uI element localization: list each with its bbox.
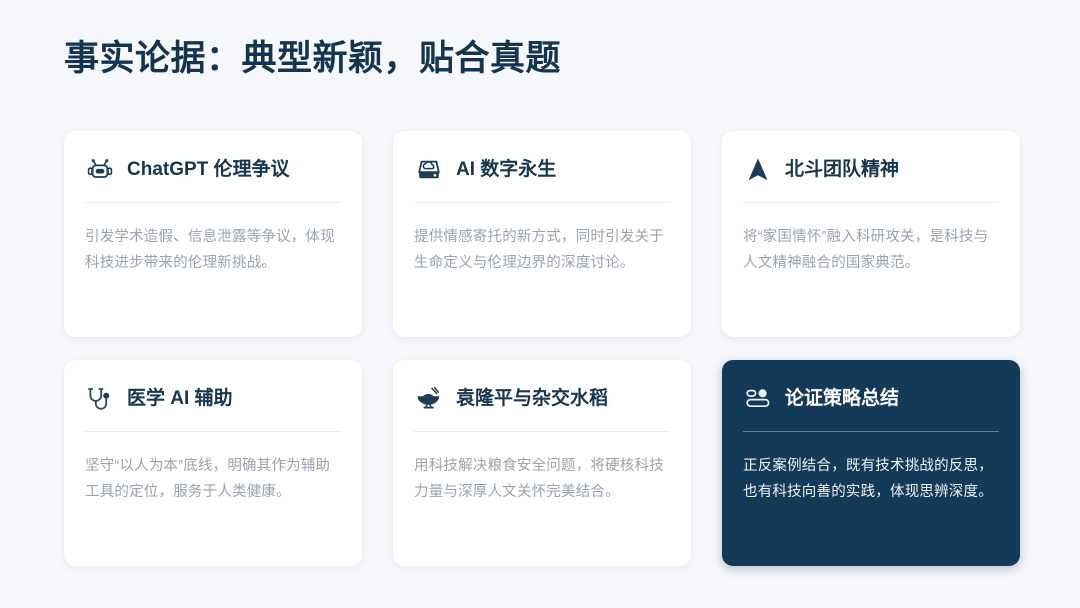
card-divider: [85, 202, 341, 203]
evidence-card-summary[interactable]: 论证策略总结 正反案例结合，既有技术挑战的反思，也有科技向善的实践，体现思辨深度…: [722, 360, 1020, 566]
evidence-card-beidou[interactable]: 北斗团队精神 将“家国情怀”融入科研攻关，是科技与人文精神融合的国家典范。: [722, 131, 1020, 337]
card-body: 用科技解决粮食安全问题，将硬核科技力量与深厚人文关怀完美结合。: [414, 453, 670, 505]
card-title: AI 数字永生: [456, 159, 556, 182]
card-header: 北斗团队精神: [743, 153, 999, 187]
rice-bowl-icon: [414, 384, 444, 414]
card-body: 引发学术造假、信息泄露等争议，体现科技进步带来的伦理新挑战。: [85, 224, 341, 276]
card-title: 论证策略总结: [785, 388, 899, 411]
card-body: 将“家国情怀”融入科研攻关，是科技与人文精神融合的国家典范。: [743, 224, 999, 276]
card-divider: [85, 431, 341, 432]
card-divider: [414, 431, 670, 432]
card-header: ChatGPT 伦理争议: [85, 153, 341, 187]
card-body: 提供情感寄托的新方式，同时引发关于生命定义与伦理边界的深度讨论。: [414, 224, 670, 276]
card-title: ChatGPT 伦理争议: [127, 159, 290, 182]
card-header: 论证策略总结: [743, 382, 999, 416]
card-divider: [743, 202, 999, 203]
card-title: 医学 AI 辅助: [127, 388, 233, 411]
card-title: 北斗团队精神: [785, 159, 899, 182]
card-body: 坚守“以人为本”底线，明确其作为辅助工具的定位，服务于人类健康。: [85, 453, 341, 505]
summary-list-icon: [743, 384, 773, 414]
slide-root: 事实论据：典型新颖，贴合真题 ChatGPT 伦理争议: [0, 0, 1080, 608]
navigation-arrow-icon: [743, 155, 773, 185]
card-header: 医学 AI 辅助: [85, 382, 341, 416]
robot-icon: [85, 155, 115, 185]
evidence-card-digital-immortality[interactable]: AI 数字永生 提供情感寄托的新方式，同时引发关于生命定义与伦理边界的深度讨论。: [393, 131, 691, 337]
card-header: 袁隆平与杂交水稻: [414, 382, 670, 416]
evidence-card-hybrid-rice[interactable]: 袁隆平与杂交水稻 用科技解决粮食安全问题，将硬核科技力量与深厚人文关怀完美结合。: [393, 360, 691, 566]
card-divider: [414, 202, 670, 203]
cloud-drive-icon: [414, 155, 444, 185]
evidence-card-medical-ai[interactable]: 医学 AI 辅助 坚守“以人为本”底线，明确其作为辅助工具的定位，服务于人类健康…: [64, 360, 362, 566]
card-title: 袁隆平与杂交水稻: [456, 388, 608, 411]
card-header: AI 数字永生: [414, 153, 670, 187]
card-body: 正反案例结合，既有技术挑战的反思，也有科技向善的实践，体现思辨深度。: [743, 453, 999, 505]
card-divider: [743, 431, 999, 432]
evidence-card-chatgpt[interactable]: ChatGPT 伦理争议 引发学术造假、信息泄露等争议，体现科技进步带来的伦理新…: [64, 131, 362, 337]
stethoscope-icon: [85, 384, 115, 414]
page-title: 事实论据：典型新颖，贴合真题: [64, 38, 561, 80]
evidence-card-grid: ChatGPT 伦理争议 引发学术造假、信息泄露等争议，体现科技进步带来的伦理新…: [64, 131, 1016, 566]
